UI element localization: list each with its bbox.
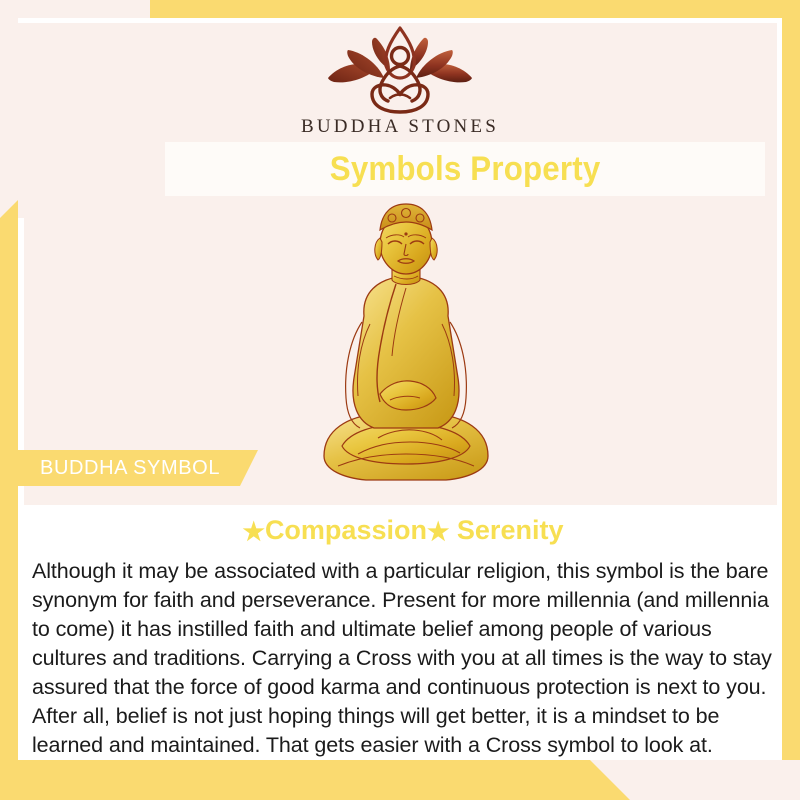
lotus-meditation-figure-icon [310,22,490,114]
description-paragraph: Although it may be associated with a par… [24,547,782,760]
star-icon-right: ★ [427,518,449,546]
seated-golden-buddha-icon [318,198,494,490]
star-icon-left: ★ [243,518,265,546]
ribbon-label: BUDDHA SYMBOL [18,457,220,480]
frame-bottom-bar [0,760,630,800]
tagline-word-serenity: Serenity [457,515,564,545]
poster-page: BUDDHA STONES Symbols Property [0,0,800,800]
frame-left-bar [0,200,18,800]
buddha-symbol-ribbon: BUDDHA SYMBOL [18,450,258,486]
buddha-statue-image [318,198,494,490]
brand-name: BUDDHA STONES [0,116,800,138]
content-panel: ★Compassion★ Serenity Although it may be… [24,505,782,760]
frame-top-bar [150,0,800,18]
title-band: Symbols Property [165,142,765,196]
tagline: ★Compassion★ Serenity [24,505,782,547]
tagline-word-compassion: Compassion [265,515,427,545]
brand-header: BUDDHA STONES [0,22,800,138]
page-title: Symbols Property [330,150,601,189]
